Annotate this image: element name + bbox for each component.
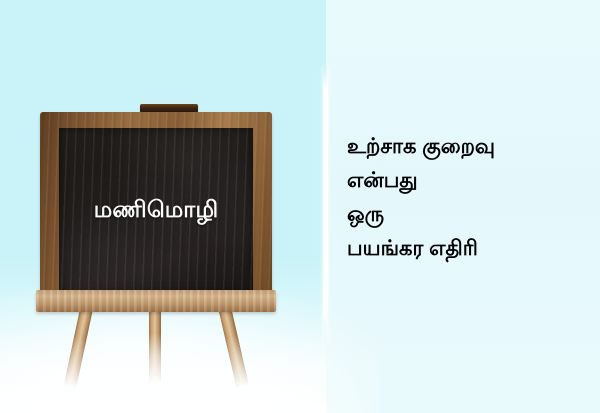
poster-canvas: மணிமொழி உற்சாக குறைவு என்பது ஒரு பயங்கர … (0, 0, 600, 413)
chalkboard-surface: மணிமொழி (59, 128, 253, 294)
vertical-divider (323, 66, 328, 344)
quote-line-2: என்பது (347, 170, 592, 191)
quote-line-1: உற்சாக குறைவு (347, 136, 592, 157)
chalkboard-text: மணிமொழி (94, 196, 219, 226)
quote-line-3: ஒரு (347, 204, 592, 225)
chalkboard-bottom-rail (36, 290, 276, 312)
chalkboard-easel: மணிமொழி (36, 100, 276, 390)
quote-block: உற்சாக குறைவு என்பது ஒரு பயங்கர எதிரி (347, 136, 592, 259)
chalkboard-frame: மணிமொழி (40, 112, 272, 308)
quote-line-4: பயங்கர எதிரி (347, 238, 592, 259)
